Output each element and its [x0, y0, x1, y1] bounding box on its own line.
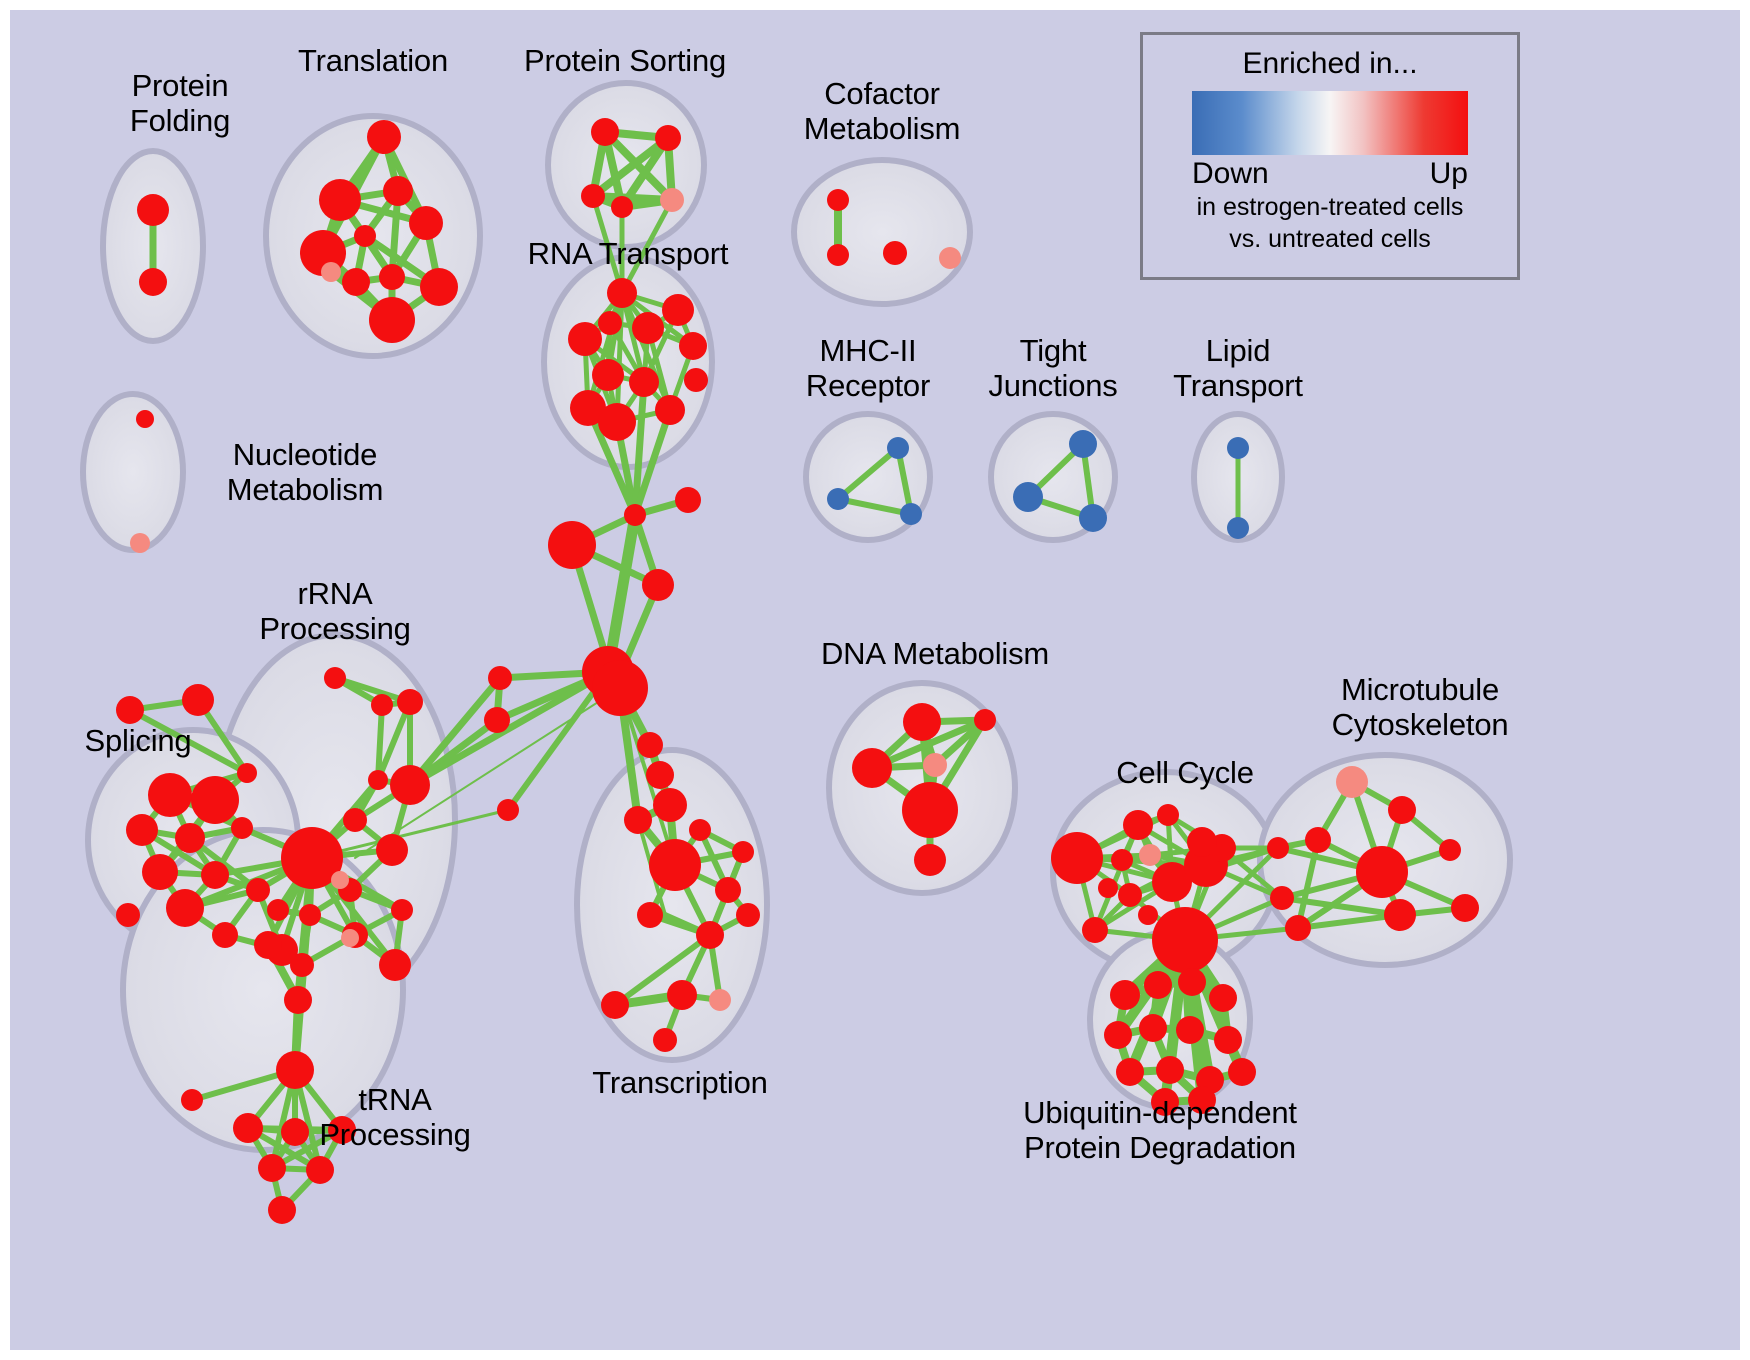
node	[601, 991, 629, 1019]
node	[655, 395, 685, 425]
node	[1270, 886, 1294, 910]
node	[116, 903, 140, 927]
node	[137, 194, 169, 226]
node	[371, 694, 393, 716]
node	[1157, 804, 1179, 826]
node	[655, 125, 681, 151]
node	[1267, 837, 1289, 859]
node	[331, 871, 349, 889]
node	[1104, 1021, 1132, 1049]
node	[649, 839, 701, 891]
node	[343, 808, 367, 832]
node	[488, 666, 512, 690]
node	[379, 949, 411, 981]
node	[1051, 832, 1103, 884]
legend-endpoints: Down Up	[1192, 157, 1468, 191]
node	[581, 184, 605, 208]
node	[166, 889, 204, 927]
node	[923, 753, 947, 777]
node	[1178, 968, 1206, 996]
node	[611, 196, 633, 218]
node	[1151, 1088, 1179, 1116]
node	[914, 844, 946, 876]
node	[887, 437, 909, 459]
node	[1144, 971, 1172, 999]
node	[341, 929, 359, 947]
node	[1156, 1056, 1184, 1084]
node	[233, 1113, 263, 1143]
node	[827, 189, 849, 211]
node	[290, 953, 314, 977]
hull-cofactor-metabolism	[794, 160, 970, 304]
node	[1187, 827, 1217, 857]
node	[1188, 1086, 1216, 1114]
node	[827, 244, 849, 266]
node	[342, 268, 370, 296]
node	[367, 120, 401, 154]
node	[191, 776, 239, 824]
node	[1138, 905, 1158, 925]
node	[684, 368, 708, 392]
node	[276, 1051, 314, 1089]
node	[497, 799, 519, 821]
legend-gradient-bar	[1192, 91, 1468, 155]
node	[1082, 917, 1108, 943]
node	[321, 262, 341, 282]
node	[1228, 1058, 1256, 1086]
node	[1451, 894, 1479, 922]
node	[126, 814, 158, 846]
node	[591, 118, 619, 146]
node	[390, 765, 430, 805]
node	[607, 278, 637, 308]
node	[1336, 766, 1368, 798]
node	[679, 332, 707, 360]
legend-title: Enriched in...	[1143, 47, 1517, 81]
node	[1384, 899, 1416, 931]
node	[624, 806, 652, 834]
node	[1079, 504, 1107, 532]
node	[902, 782, 958, 838]
node	[1139, 844, 1161, 866]
node	[142, 854, 178, 890]
node	[306, 1156, 334, 1184]
node	[420, 268, 458, 306]
node	[1123, 810, 1153, 840]
node	[319, 179, 361, 221]
node	[662, 294, 694, 326]
node	[1152, 907, 1218, 973]
node	[548, 521, 596, 569]
node	[903, 703, 941, 741]
node	[397, 689, 423, 715]
node	[637, 732, 663, 758]
node	[629, 367, 659, 397]
node	[212, 922, 238, 948]
node	[130, 533, 150, 553]
node	[709, 989, 731, 1011]
node	[1013, 482, 1043, 512]
legend-up-label: Up	[1430, 157, 1468, 191]
node	[281, 1118, 309, 1146]
node	[368, 770, 388, 790]
node	[736, 903, 760, 927]
node	[592, 660, 648, 716]
node	[1111, 849, 1133, 871]
node	[689, 819, 711, 841]
legend-subtitle-line1: in estrogen-treated cells	[1143, 193, 1517, 223]
node	[1139, 1014, 1167, 1042]
node	[852, 748, 892, 788]
node	[1439, 839, 1461, 861]
node	[369, 297, 415, 343]
node	[653, 1028, 677, 1052]
node	[268, 1196, 296, 1224]
node	[328, 1116, 356, 1144]
node	[1305, 827, 1331, 853]
node	[653, 788, 687, 822]
node	[484, 707, 510, 733]
node	[624, 504, 646, 526]
node	[299, 904, 321, 926]
node	[646, 761, 674, 789]
node	[116, 696, 144, 724]
node	[1227, 437, 1249, 459]
network-diagram: Protein Folding Translation Protein Sort…	[10, 10, 1740, 1350]
node	[660, 188, 684, 212]
node	[939, 247, 961, 269]
node	[1098, 878, 1118, 898]
node	[1356, 846, 1408, 898]
node	[148, 773, 192, 817]
node	[175, 823, 205, 853]
node	[632, 312, 664, 344]
node	[231, 817, 253, 839]
node	[883, 241, 907, 265]
node	[1069, 430, 1097, 458]
node	[182, 684, 214, 716]
node	[696, 921, 724, 949]
node	[1214, 1026, 1242, 1054]
node	[1116, 1058, 1144, 1086]
node	[900, 503, 922, 525]
node	[409, 206, 443, 240]
legend-subtitle-line2: vs. untreated cells	[1143, 225, 1517, 255]
node	[592, 359, 624, 391]
legend-down-label: Down	[1192, 157, 1269, 191]
legend-box: Enriched in... Down Up in estrogen-treat…	[1140, 32, 1520, 280]
node	[642, 569, 674, 601]
node	[284, 986, 312, 1014]
node	[974, 709, 996, 731]
node	[637, 902, 663, 928]
node	[732, 841, 754, 863]
node	[1118, 883, 1142, 907]
node	[383, 176, 413, 206]
node	[237, 763, 257, 783]
node	[376, 834, 408, 866]
node	[391, 899, 413, 921]
node	[246, 878, 270, 902]
node	[1110, 980, 1140, 1010]
node	[139, 268, 167, 296]
node	[1285, 915, 1311, 941]
node	[254, 931, 282, 959]
node	[667, 980, 697, 1010]
node	[568, 322, 602, 356]
node	[379, 264, 405, 290]
hull-nucleotide-metabolism	[83, 394, 183, 550]
node	[827, 488, 849, 510]
node	[1388, 796, 1416, 824]
hull-protein-sorting	[548, 83, 704, 247]
node	[267, 899, 289, 921]
node	[675, 487, 701, 513]
node	[258, 1154, 286, 1182]
node	[354, 225, 376, 247]
node	[1227, 517, 1249, 539]
node	[598, 403, 636, 441]
node	[715, 877, 741, 903]
node	[201, 861, 229, 889]
node	[1176, 1016, 1204, 1044]
figure-canvas: Protein Folding Translation Protein Sort…	[0, 0, 1750, 1360]
node	[181, 1089, 203, 1111]
node	[598, 311, 622, 335]
node	[136, 410, 154, 428]
node	[324, 667, 346, 689]
node	[1209, 984, 1237, 1012]
